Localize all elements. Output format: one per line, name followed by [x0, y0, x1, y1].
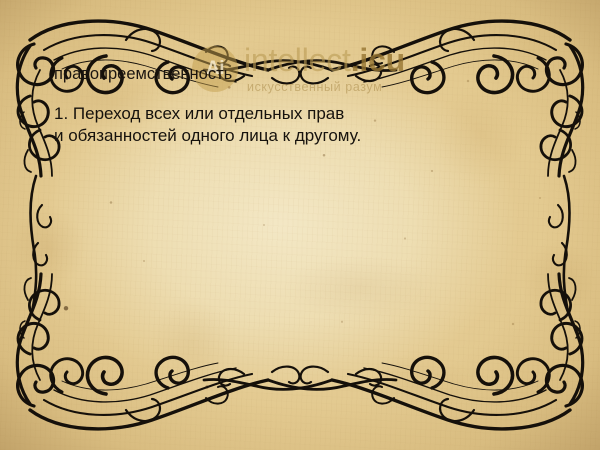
dictionary-term: правопреемственность	[54, 64, 534, 85]
definition-line: и обязанностей одного лица к другому.	[54, 125, 534, 148]
dictionary-definition: 1. Переход всех или отдельных прав и обя…	[54, 103, 534, 148]
definition-line: 1. Переход всех или отдельных прав	[54, 103, 534, 126]
dictionary-card: Ai intellect.icu искусственный разум пра…	[0, 0, 600, 450]
definition-content: правопреемственность 1. Переход всех или…	[54, 64, 534, 148]
